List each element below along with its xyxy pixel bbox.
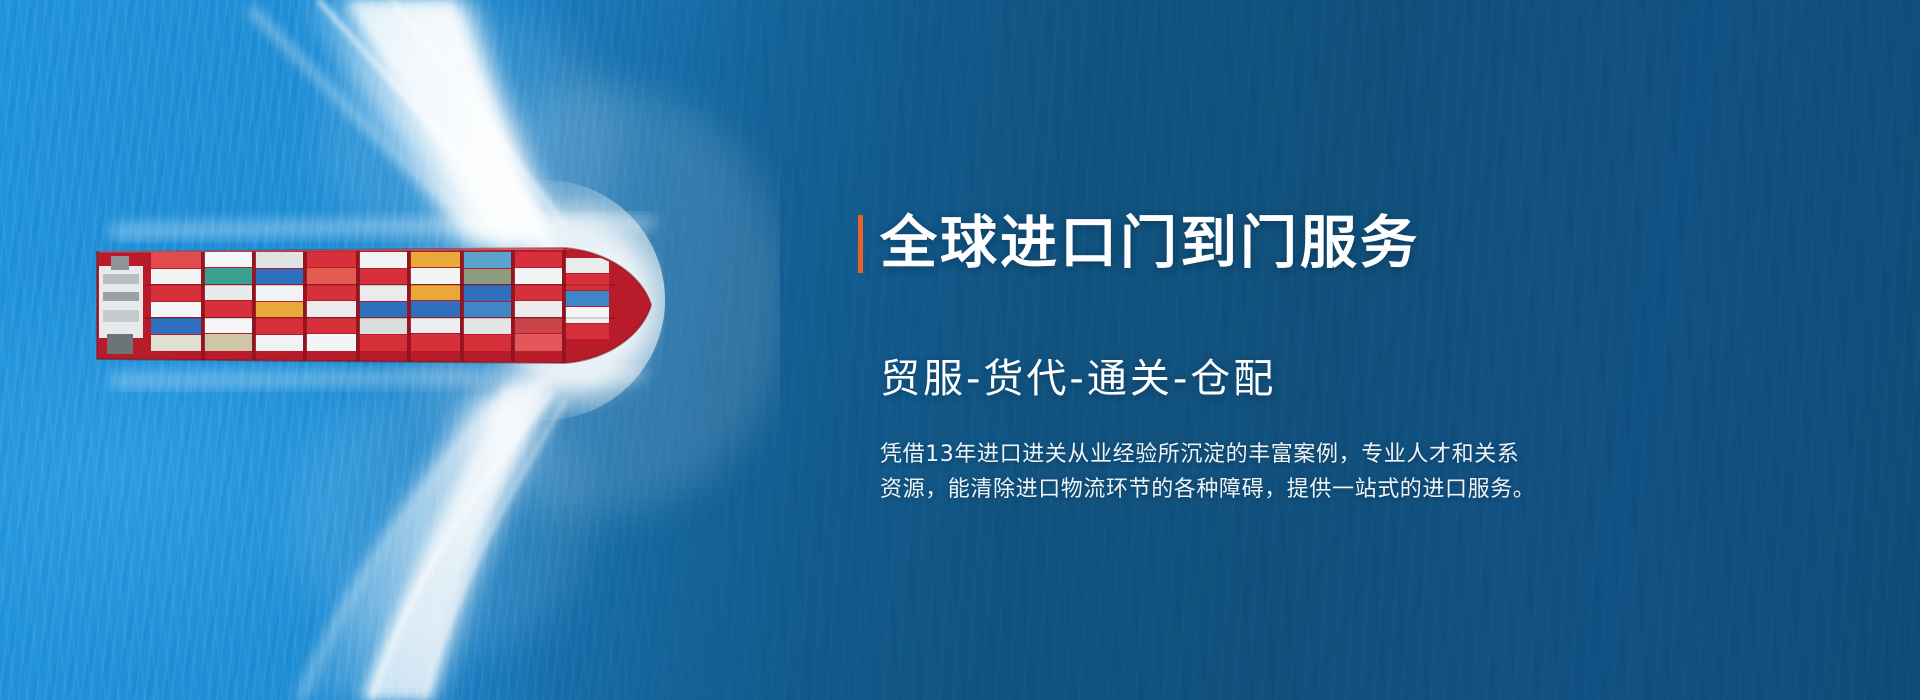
wake-haze3 [290,380,590,660]
description-line-2: 资源，能清除进口物流环节的各种障碍，提供一站式的进口服务。 [880,472,1590,507]
ship-funnel [111,256,129,270]
banner-text-block: 全球进口门到门服务 贸服-货代-通关-仓配 凭借13年进口进关从业经验所沉淀的丰… [858,176,1638,507]
container-stacks [95,250,655,362]
ship-svg [95,238,655,373]
page-title: 全球进口门到门服务 [880,214,1420,274]
wake-haze2 [320,10,620,270]
container-ship [95,238,655,373]
description-line-1: 凭借13年进口进关从业经验所沉淀的丰富案例，专业人才和关系 [880,437,1590,472]
headline-row: 全球进口门到门服务 [858,176,1638,312]
container-bay [306,252,356,351]
container-bay [410,252,460,351]
banner-description: 凭借13年进口进关从业经验所沉淀的丰富案例，专业人才和关系 资源，能清除进口物流… [880,437,1590,507]
hero-banner: 全球进口门到门服务 贸服-货代-通关-仓配 凭借13年进口进关从业经验所沉淀的丰… [0,0,1920,700]
container-bay [565,258,609,339]
container-bay [514,252,562,351]
container-bay [204,252,252,351]
orange-accent-bar [858,215,863,273]
banner-subheading: 贸服-货代-通关-仓配 [880,346,1638,404]
